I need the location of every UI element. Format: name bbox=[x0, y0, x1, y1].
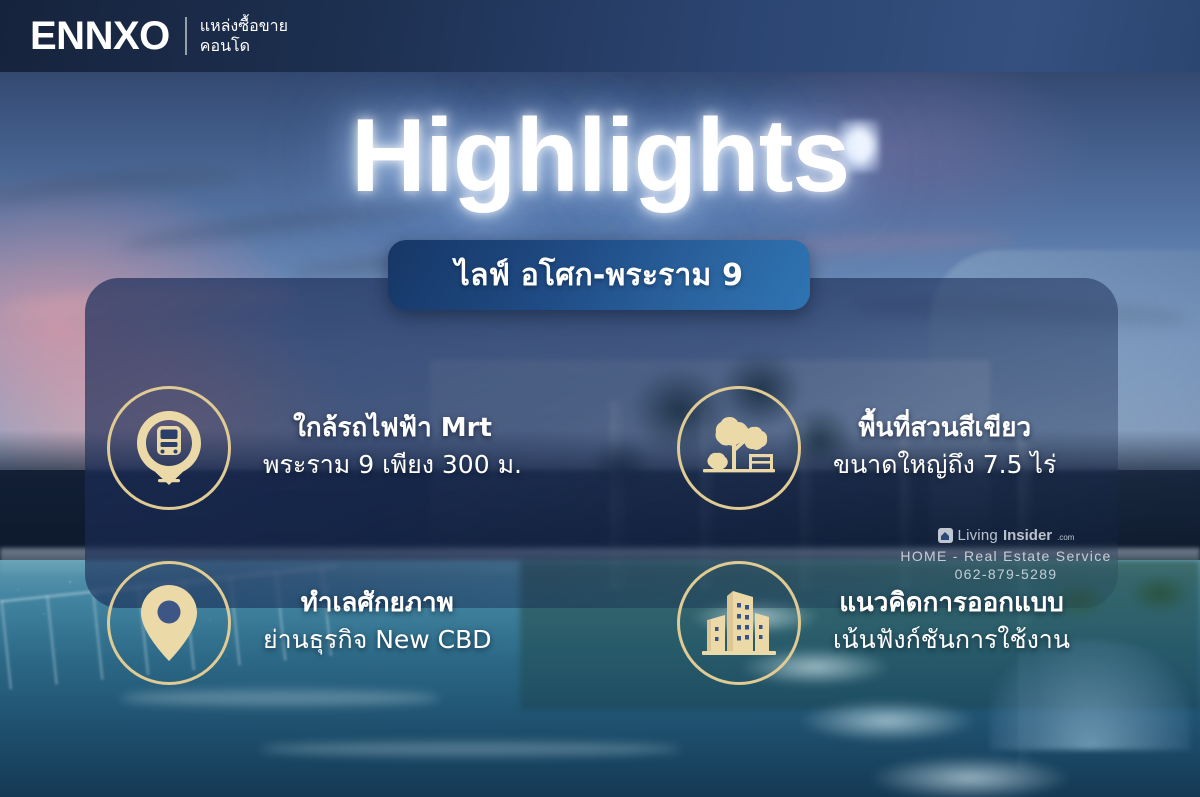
logo-wordmark: ENNXO bbox=[30, 16, 170, 56]
highlights-infographic: ENNXO แหล่งซื้อขาย คอนโด Highlights ไลฟ์… bbox=[0, 0, 1200, 797]
highlight-item-location: ทำเลศักยภาพ ย่านธุรกิจ New CBD bbox=[85, 535, 655, 710]
park-trees-bench-icon bbox=[677, 386, 801, 510]
logo-tagline-line1: แหล่งซื้อขาย bbox=[200, 16, 288, 35]
watermark-brand-part1: Living bbox=[958, 528, 998, 543]
highlight-subtitle: ย่านธุรกิจ New CBD bbox=[263, 624, 492, 657]
highlight-text-green-area: พื้นที่สวนสีเขียว ขนาดใหญ่ถึง 7.5 ไร่ bbox=[833, 413, 1056, 481]
logo-divider-icon bbox=[185, 17, 187, 55]
watermark-brand: LivingInsider.com bbox=[870, 528, 1142, 543]
highlight-subtitle: พระราม 9 เพียง 300 ม. bbox=[263, 449, 522, 482]
highlight-title: ใกล้รถไฟฟ้า Mrt bbox=[263, 413, 522, 445]
pool-light bbox=[870, 756, 1070, 797]
logo-tagline-line2: คอนโด bbox=[200, 36, 250, 55]
highlight-subtitle: ขนาดใหญ่ถึง 7.5 ไร่ bbox=[833, 449, 1056, 482]
mrt-train-pin-icon bbox=[107, 386, 231, 510]
highlight-item-mrt: ใกล้รถไฟฟ้า Mrt พระราม 9 เพียง 300 ม. bbox=[85, 360, 655, 535]
watermark-service-line: HOME - Real Estate Service bbox=[870, 548, 1142, 564]
watermark-brand-part2: Insider bbox=[1003, 528, 1052, 543]
brand-logo[interactable]: ENNXO แหล่งซื้อขาย คอนโด bbox=[30, 16, 288, 57]
logo-tagline: แหล่งซื้อขาย คอนโด bbox=[200, 16, 288, 57]
watermark-phone: 062-879-5289 bbox=[870, 566, 1142, 582]
project-name-badge: ไลฟ์ อโศก-พระราม 9 bbox=[388, 240, 810, 310]
livinginsider-watermark: LivingInsider.com HOME - Real Estate Ser… bbox=[870, 528, 1142, 582]
livinginsider-logo-icon bbox=[938, 528, 953, 543]
watermark-brand-suffix: .com bbox=[1057, 534, 1074, 543]
highlight-title: แนวคิดการออกแบบ bbox=[833, 588, 1070, 620]
highlight-title: ทำเลศักยภาพ bbox=[263, 588, 492, 620]
page-title: Highlights bbox=[0, 104, 1200, 208]
highlight-item-green-area: พื้นที่สวนสีเขียว ขนาดใหญ่ถึง 7.5 ไร่ bbox=[655, 360, 1140, 535]
water-ripple bbox=[260, 742, 680, 756]
highlight-text-location: ทำเลศักยภาพ ย่านธุรกิจ New CBD bbox=[263, 588, 492, 656]
highlight-text-mrt: ใกล้รถไฟฟ้า Mrt พระราม 9 เพียง 300 ม. bbox=[263, 413, 522, 481]
highlight-text-design: แนวคิดการออกแบบ เน้นฟังก์ชันการใช้งาน bbox=[833, 588, 1070, 656]
highlight-title: พื้นที่สวนสีเขียว bbox=[833, 413, 1056, 445]
site-header: ENNXO แหล่งซื้อขาย คอนโด bbox=[0, 0, 1200, 72]
project-name-label: ไลฟ์ อโศก-พระราม 9 bbox=[455, 252, 743, 299]
buildings-icon bbox=[677, 561, 801, 685]
highlight-subtitle: เน้นฟังก์ชันการใช้งาน bbox=[833, 624, 1070, 657]
location-pin-icon bbox=[107, 561, 231, 685]
